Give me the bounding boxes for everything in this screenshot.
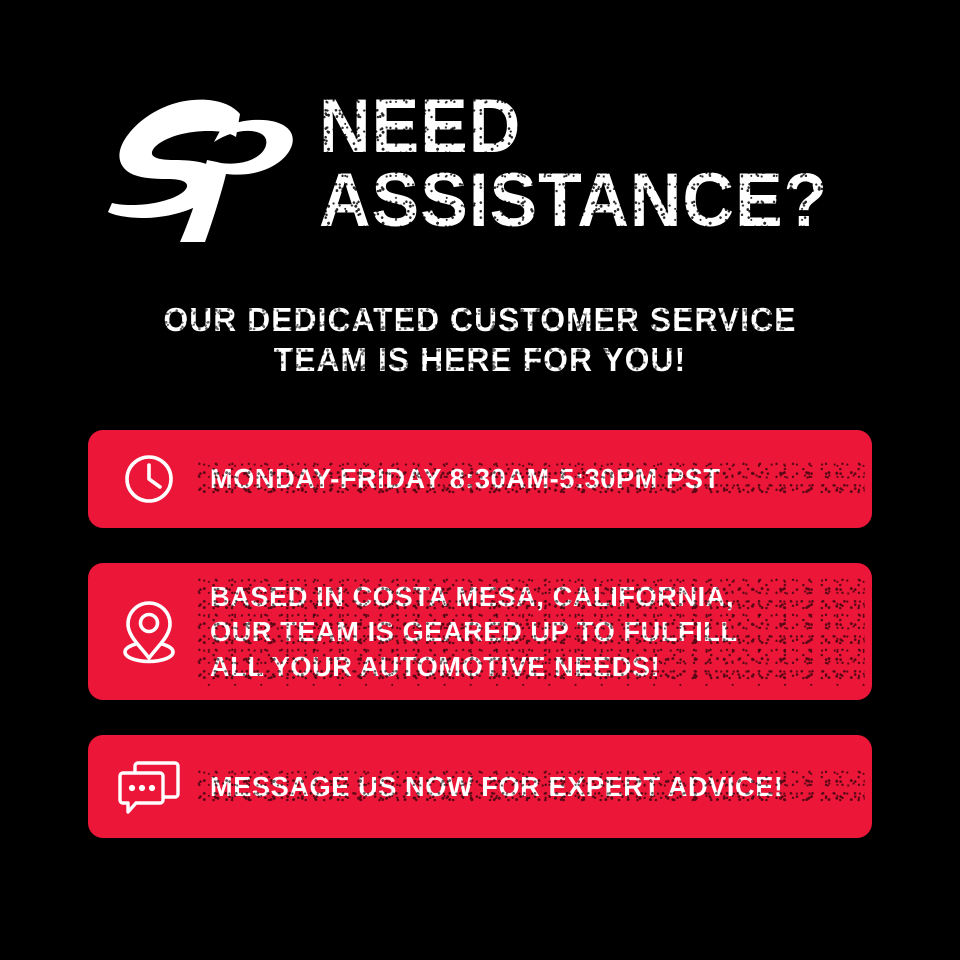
headline-line-2: ASSISTANCE? (319, 164, 828, 238)
info-card-hours[interactable]: MONDAY-FRIDAY 8:30AM-5:30PM PST (88, 430, 872, 528)
location-pin-icon (88, 598, 210, 666)
message-line-1: MESSAGE US NOW FOR EXPERT ADVICE! (210, 771, 852, 803)
header: NEED ASSISTANCE? (0, 88, 960, 248)
hours-line-1: MONDAY-FRIDAY 8:30AM-5:30PM PST (210, 463, 852, 495)
headline-line-1: NEED (319, 90, 828, 164)
promo-poster: NEED ASSISTANCE? OUR DEDICATED CUSTOMER … (0, 0, 960, 960)
subtitle: OUR DEDICATED CUSTOMER SERVICE TEAM IS H… (0, 300, 960, 380)
subtitle-line-1: OUR DEDICATED CUSTOMER SERVICE (19, 300, 941, 340)
info-card-message-text: MESSAGE US NOW FOR EXPERT ADVICE! (210, 771, 852, 803)
info-card-hours-text: MONDAY-FRIDAY 8:30AM-5:30PM PST (210, 463, 852, 495)
clock-icon (88, 453, 210, 505)
info-card-location[interactable]: BASED IN COSTA MESA, CALIFORNIA, OUR TEA… (88, 563, 872, 700)
location-line-1: BASED IN COSTA MESA, CALIFORNIA, (210, 579, 852, 614)
location-line-3: ALL YOUR AUTOMOTIVE NEEDS! (210, 649, 852, 684)
info-cards: MONDAY-FRIDAY 8:30AM-5:30PM PST BASED IN… (88, 430, 872, 838)
sp-brand-logo (99, 98, 295, 248)
subtitle-line-2: TEAM IS HERE FOR YOU! (19, 340, 941, 380)
chat-bubbles-icon (88, 758, 210, 816)
page-title: NEED ASSISTANCE? (319, 88, 861, 238)
info-card-message[interactable]: MESSAGE US NOW FOR EXPERT ADVICE! (88, 735, 872, 838)
location-line-2: OUR TEAM IS GEARED UP TO FULFILL (210, 614, 852, 649)
info-card-location-text: BASED IN COSTA MESA, CALIFORNIA, OUR TEA… (210, 579, 852, 684)
